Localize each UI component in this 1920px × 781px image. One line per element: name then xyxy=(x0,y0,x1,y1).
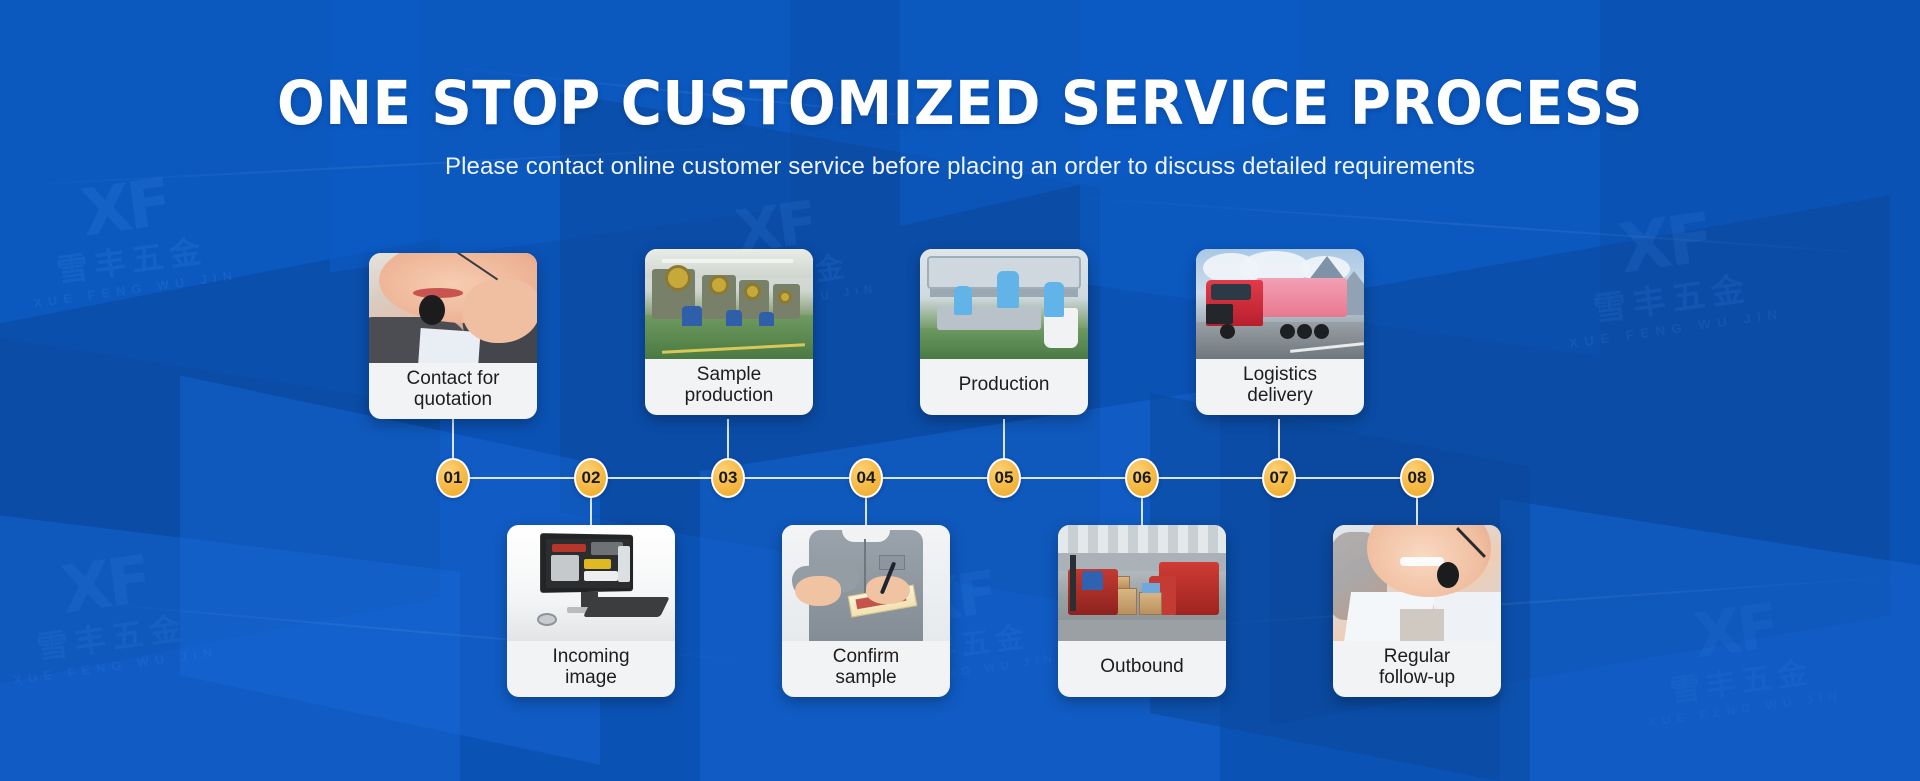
step-card-08[interactable]: Regular follow-up xyxy=(1333,525,1501,697)
step-card-04[interactable]: Confirm sample xyxy=(782,525,950,697)
step-label-06: Outbound xyxy=(1058,641,1226,697)
timeline-node-03[interactable]: 03 xyxy=(711,458,745,498)
step-photo-sample-production xyxy=(645,249,813,359)
timeline-node-08[interactable]: 08 xyxy=(1400,458,1434,498)
step-photo-confirm-sample xyxy=(782,525,950,641)
timeline-node-06[interactable]: 06 xyxy=(1125,458,1159,498)
step-card-01[interactable]: Contact for quotation xyxy=(369,253,537,419)
step-card-07[interactable]: Logistics delivery xyxy=(1196,249,1364,415)
timeline-node-07[interactable]: 07 xyxy=(1262,458,1296,498)
step-card-05[interactable]: Production xyxy=(920,249,1088,415)
service-process-banner: XF 雪丰五金 XUE FENG WU JIN XF 雪丰五金 XUE FENG… xyxy=(0,0,1920,781)
timeline-node-05[interactable]: 05 xyxy=(987,458,1021,498)
step-photo-regular-follow-up xyxy=(1333,525,1501,641)
step-photo-logistics-delivery xyxy=(1196,249,1364,359)
step-label-01: Contact for quotation xyxy=(369,363,537,419)
step-label-05: Production xyxy=(920,359,1088,415)
step-photo-incoming-image xyxy=(507,525,675,641)
step-photo-outbound xyxy=(1058,525,1226,641)
timeline-node-04[interactable]: 04 xyxy=(849,458,883,498)
timeline-node-02[interactable]: 02 xyxy=(574,458,608,498)
step-label-08: Regular follow-up xyxy=(1333,641,1501,697)
step-label-04: Confirm sample xyxy=(782,641,950,697)
step-card-02[interactable]: Incoming image xyxy=(507,525,675,697)
process-timeline: 01 02 03 04 05 06 07 08 Contact for quot… xyxy=(0,0,1920,781)
step-label-02: Incoming image xyxy=(507,641,675,697)
step-card-06[interactable]: Outbound xyxy=(1058,525,1226,697)
step-label-07: Logistics delivery xyxy=(1196,359,1364,415)
timeline-node-01[interactable]: 01 xyxy=(436,458,470,498)
step-label-03: Sample production xyxy=(645,359,813,415)
step-photo-contact-for-quotation xyxy=(369,253,537,363)
step-card-03[interactable]: Sample production xyxy=(645,249,813,415)
step-photo-production xyxy=(920,249,1088,359)
